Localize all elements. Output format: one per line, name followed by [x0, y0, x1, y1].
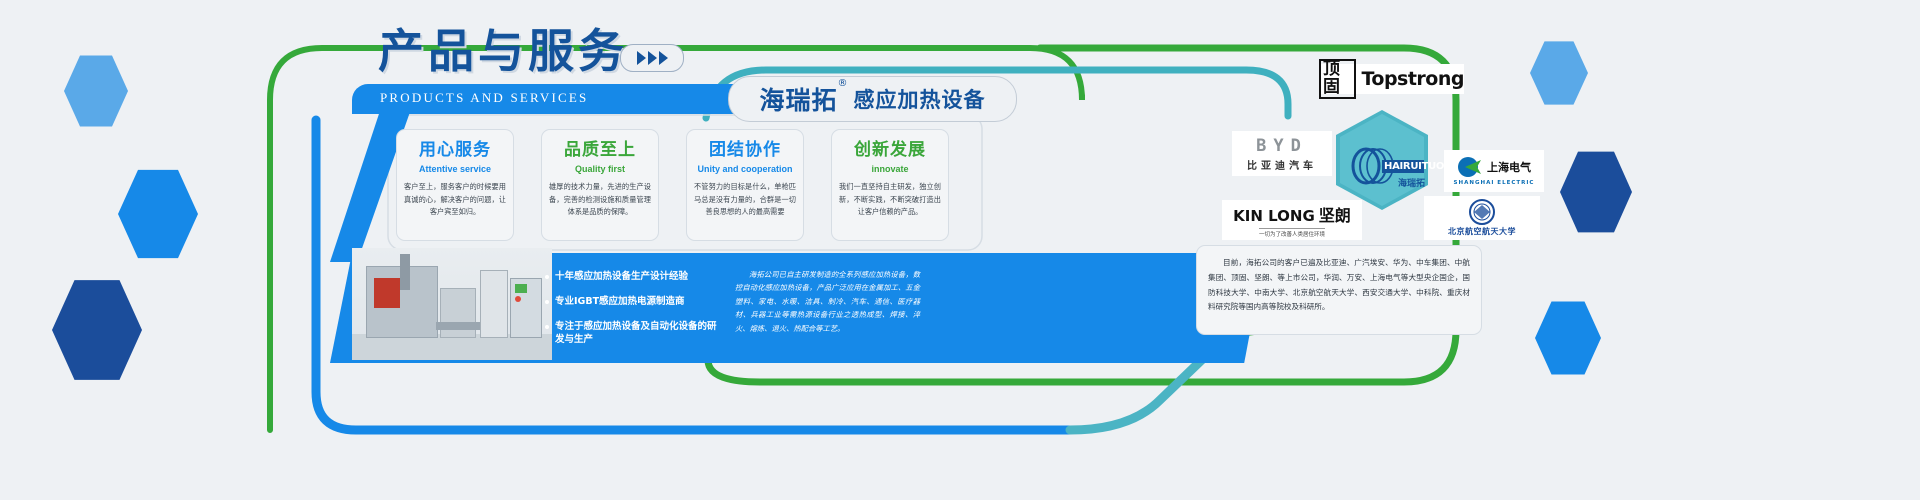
- logo-topstrong: 顶固 Topstrong: [1319, 64, 1464, 94]
- triple-arrow-right-icon: [620, 44, 684, 72]
- logo-topstrong-en: Topstrong: [1361, 68, 1464, 90]
- registered-trademark-icon: ®: [838, 78, 849, 89]
- brand-name-text: 海瑞拓: [759, 86, 837, 115]
- machine-indicator-red: [515, 296, 521, 302]
- logo-byd-cn: 比亚迪汽车: [1247, 157, 1317, 172]
- logo-kinlong-cn: 坚朗: [1319, 202, 1351, 226]
- bullet-dot-icon: [545, 275, 549, 279]
- decorative-hexagon-right-3: [1535, 300, 1601, 376]
- culture-wall-canvas: 产品与服务 PRODUCTS AND SERVICES 海瑞拓 ® 感应加热设备…: [0, 0, 1920, 500]
- value-card-2-body: 雄厚的技术力量，先进的生产设备，完善的检测设施和质量管理体系是品质的保障。: [549, 181, 651, 219]
- logo-byd-en: BYD: [1256, 136, 1308, 156]
- feature-bullet-list: 十年感应加热设备生产设计经验 专业IGBT感应加热电源制造商 专注于感应加热设备…: [545, 270, 725, 358]
- logo-hairuituo-en: HAIRUITUO: [1384, 161, 1444, 172]
- feature-bullet-item: 十年感应加热设备生产设计经验: [545, 270, 725, 284]
- logo-topstrong-cn: 顶固: [1319, 59, 1356, 99]
- decorative-hexagon-left-2: [118, 168, 198, 260]
- arrow-3-icon: [659, 51, 668, 65]
- value-card-4-body: 我们一直坚持自主研发，独立创新，不断实践，不断突破打造出让客户信赖的产品。: [839, 181, 941, 219]
- value-card-1-title: 用心服务: [404, 142, 506, 159]
- value-card-1-subtitle: Attentive service: [404, 164, 506, 174]
- machine-cabinet-tall: [480, 270, 508, 338]
- feature-bullet-item: 专业IGBT感应加热电源制造商: [545, 295, 725, 309]
- feature-bullet-item: 专注于感应加热设备及自动化设备的研发与生产: [545, 320, 725, 348]
- value-card-4: 创新发展 innovate 我们一直坚持自主研发，独立创新，不断实践，不断突破打…: [831, 129, 949, 241]
- value-card-2-subtitle: Quality first: [549, 164, 651, 174]
- brand-tagline: 感应加热设备: [854, 84, 986, 114]
- logo-hairuituo-mark: [1336, 110, 1428, 210]
- logo-shanghai-electric-cn: 上海电气: [1487, 159, 1531, 175]
- decorative-hexagon-right-2: [1560, 150, 1632, 234]
- decorative-hexagon-left-1: [64, 54, 128, 128]
- bullet-dot-icon: [545, 300, 549, 304]
- value-card-3-subtitle: Unity and cooperation: [694, 164, 796, 174]
- arrow-2-icon: [648, 51, 657, 65]
- logo-beihang-cn: 北京航空航天大学: [1448, 226, 1516, 237]
- machine-body-red: [374, 278, 400, 308]
- logo-byd: BYD 比亚迪汽车: [1232, 131, 1332, 176]
- machine-arm: [400, 254, 410, 290]
- arrow-1-icon: [637, 51, 646, 65]
- value-card-2-title: 品质至上: [549, 142, 651, 159]
- teal-ribbon-corner: [1246, 70, 1288, 116]
- bullet-dot-icon: [545, 325, 549, 329]
- logo-hairuituo-cn: 海瑞拓: [1398, 176, 1425, 189]
- machine-indicator-green: [515, 284, 527, 293]
- logo-kinlong-en: KIN LONG: [1233, 207, 1315, 225]
- logo-shanghai-electric-en: SHANGHAI ELECTRIC: [1454, 180, 1535, 186]
- feature-bullet-1-text: 十年感应加热设备生产设计经验: [555, 270, 688, 284]
- logo-beihang: 北京航空航天大学: [1424, 196, 1540, 240]
- page-subtitle: PRODUCTS AND SERVICES: [380, 90, 588, 106]
- decorative-hexagon-left-3: [52, 278, 142, 382]
- client-list-box: 目前，海拓公司的客户已遍及比亚迪、广汽埃安、华为、中车集团、中航集团、顶固、坚朗…: [1196, 245, 1482, 335]
- logo-shanghai-electric-mark: [1457, 156, 1483, 178]
- feature-bullet-2-text: 专业IGBT感应加热电源制造商: [555, 295, 685, 309]
- green-ribbon-bottom: [708, 360, 1205, 382]
- logo-hairuituo: HAIRUITUO 海瑞拓: [1336, 110, 1428, 210]
- feature-bullet-3-text: 专注于感应加热设备及自动化设备的研发与生产: [555, 320, 725, 348]
- client-list-paragraph: 目前，海拓公司的客户已遍及比亚迪、广汽埃安、华为、中车集团、中航集团、顶固、坚朗…: [1208, 256, 1470, 315]
- teal-ribbon-bottom: [1070, 352, 1210, 430]
- brand-name: 海瑞拓 ®: [759, 81, 837, 117]
- machinery-photo: [352, 248, 552, 360]
- value-card-1: 用心服务 Attentive service 客户至上，服务客户的时候要用真诚的…: [396, 129, 514, 241]
- logo-kinlong-slogan: 一切为了改善人类居住环境: [1259, 228, 1325, 238]
- machine-panel-grey: [440, 288, 476, 338]
- value-card-4-subtitle: innovate: [839, 164, 941, 174]
- logo-shanghai-electric: 上海电气 SHANGHAI ELECTRIC: [1444, 150, 1544, 192]
- decorative-hexagon-right-1: [1530, 40, 1588, 106]
- logo-kinlong: KIN LONG 坚朗 一切为了改善人类居住环境: [1222, 200, 1362, 240]
- brand-pill: 海瑞拓 ® 感应加热设备: [728, 76, 1017, 122]
- logo-beihang-crest-icon: [1469, 199, 1495, 225]
- page-title-block: 产品与服务: [378, 28, 628, 74]
- value-card-4-title: 创新发展: [839, 142, 941, 159]
- value-card-1-body: 客户至上，服务客户的时候要用真诚的心，解决客户的问题，让客户宾至如归。: [404, 181, 506, 219]
- value-card-3-body: 不管努力的目标是什么，单枪匹马总是没有力量的，合群是一切善良思想的人的最高需要: [694, 181, 796, 219]
- company-description-paragraph: 海拓公司已自主研发制造的全系列感应加热设备，数控自动化感应加热设备，产品广泛应用…: [735, 268, 920, 335]
- value-card-3: 团结协作 Unity and cooperation 不管努力的目标是什么，单枪…: [686, 129, 804, 241]
- page-title: 产品与服务: [378, 28, 628, 74]
- ribbon-frame: [0, 0, 1920, 500]
- value-card-3-title: 团结协作: [694, 142, 796, 159]
- value-card-2: 品质至上 Quality first 雄厚的技术力量，先进的生产设备，完善的检测…: [541, 129, 659, 241]
